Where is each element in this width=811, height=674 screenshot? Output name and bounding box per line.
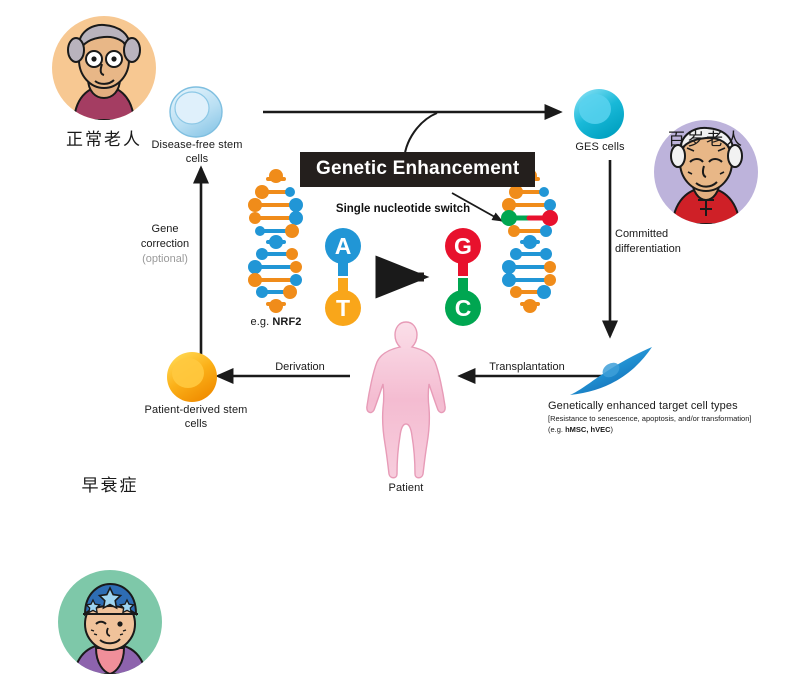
cell-disease-free [168,86,224,138]
svg-text:C: C [455,295,472,321]
label-gene-correction: Gene correction (optional) [130,222,200,267]
label-target-cells-note1: [Resistance to senescence, apoptosis, an… [548,414,804,425]
label-target-cells-note2: (e.g. hMSC, hVEC) [548,425,804,436]
label-committed-differentiation: Committed differentiation [615,227,707,257]
diagram-canvas: 正常老人 百岁老人 [0,0,811,508]
target-note2-suffix: ) [611,425,614,434]
dna-left-prefix: e.g. [250,316,272,328]
svg-text:A: A [335,233,352,259]
gene-correction-line3: (optional) [130,252,200,267]
dna-left-normal [240,172,310,312]
committed-differentiation-line1: Committed [615,227,707,242]
label-target-cells: Genetically enhanced target cell types [548,400,798,414]
label-patient: Patient [356,482,456,496]
label-ges-cells: GES cells [552,141,648,155]
target-note2-bold: hMSC, hVEC [565,425,610,434]
target-note2-prefix: (e.g. [548,425,565,434]
nucleotide-pair-enhanced: G C [434,228,494,326]
gene-correction-line1: Gene [130,222,200,237]
banner-genetic-enhancement: Genetic Enhancement [300,152,535,187]
committed-differentiation-line2: differentiation [615,242,707,257]
label-transplantation: Transplantation [472,360,582,375]
label-progeria: 早衰症 [50,471,170,496]
dna-left-gene: NRF2 [272,316,301,328]
dna-right-enhanced [494,172,564,312]
svg-text:T: T [336,295,350,321]
subtitle-single-nucleotide-switch: Single nucleotide switch [308,203,498,215]
cell-ges [572,88,626,140]
portrait-progeria [58,570,162,674]
label-dna-left: e.g. NRF2 [228,316,324,330]
figure-patient [355,320,457,480]
gene-correction-line2: correction [130,237,200,252]
cell-patient-derived [165,351,219,403]
portrait-normal-elder [52,16,156,120]
label-patient-derived-stem-cells: Patient-derived stem cells [133,404,259,432]
nucleotide-pair-original: A T [314,228,374,326]
label-derivation: Derivation [255,360,345,375]
label-disease-free-stem-cells: Disease-free stem cells [140,139,254,167]
label-centenarian: 百岁老人 [646,125,766,150]
svg-text:G: G [454,233,472,259]
